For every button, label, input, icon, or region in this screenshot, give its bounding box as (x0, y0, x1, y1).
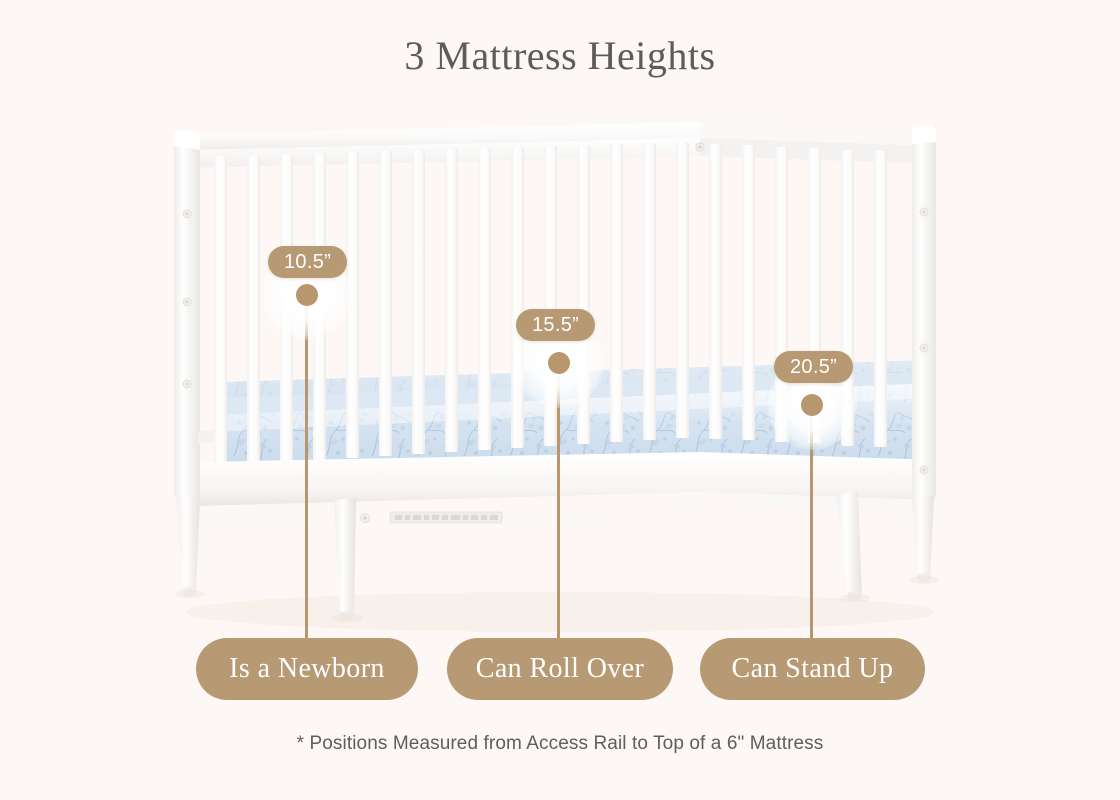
footnote-text: * Positions Measured from Access Rail to… (0, 733, 1120, 755)
leader-line-2 (557, 363, 560, 643)
measurement-badge-3[interactable]: 20.5” (774, 351, 853, 383)
marker-dot-3 (801, 394, 823, 416)
leader-line-3 (810, 405, 813, 643)
leader-line-1 (305, 295, 308, 643)
stage-pill-can-stand-up[interactable]: Can Stand Up (700, 638, 925, 700)
stage-pill-is-a-newborn[interactable]: Is a Newborn (196, 638, 418, 700)
marker-dot-1 (296, 284, 318, 306)
measurement-badge-1[interactable]: 10.5” (268, 246, 347, 278)
infographic-canvas: 3 Mattress Heights (0, 0, 1120, 800)
marker-dot-2 (548, 352, 570, 374)
stage-pill-can-roll-over[interactable]: Can Roll Over (447, 638, 673, 700)
measurement-badge-2[interactable]: 15.5” (516, 309, 595, 341)
